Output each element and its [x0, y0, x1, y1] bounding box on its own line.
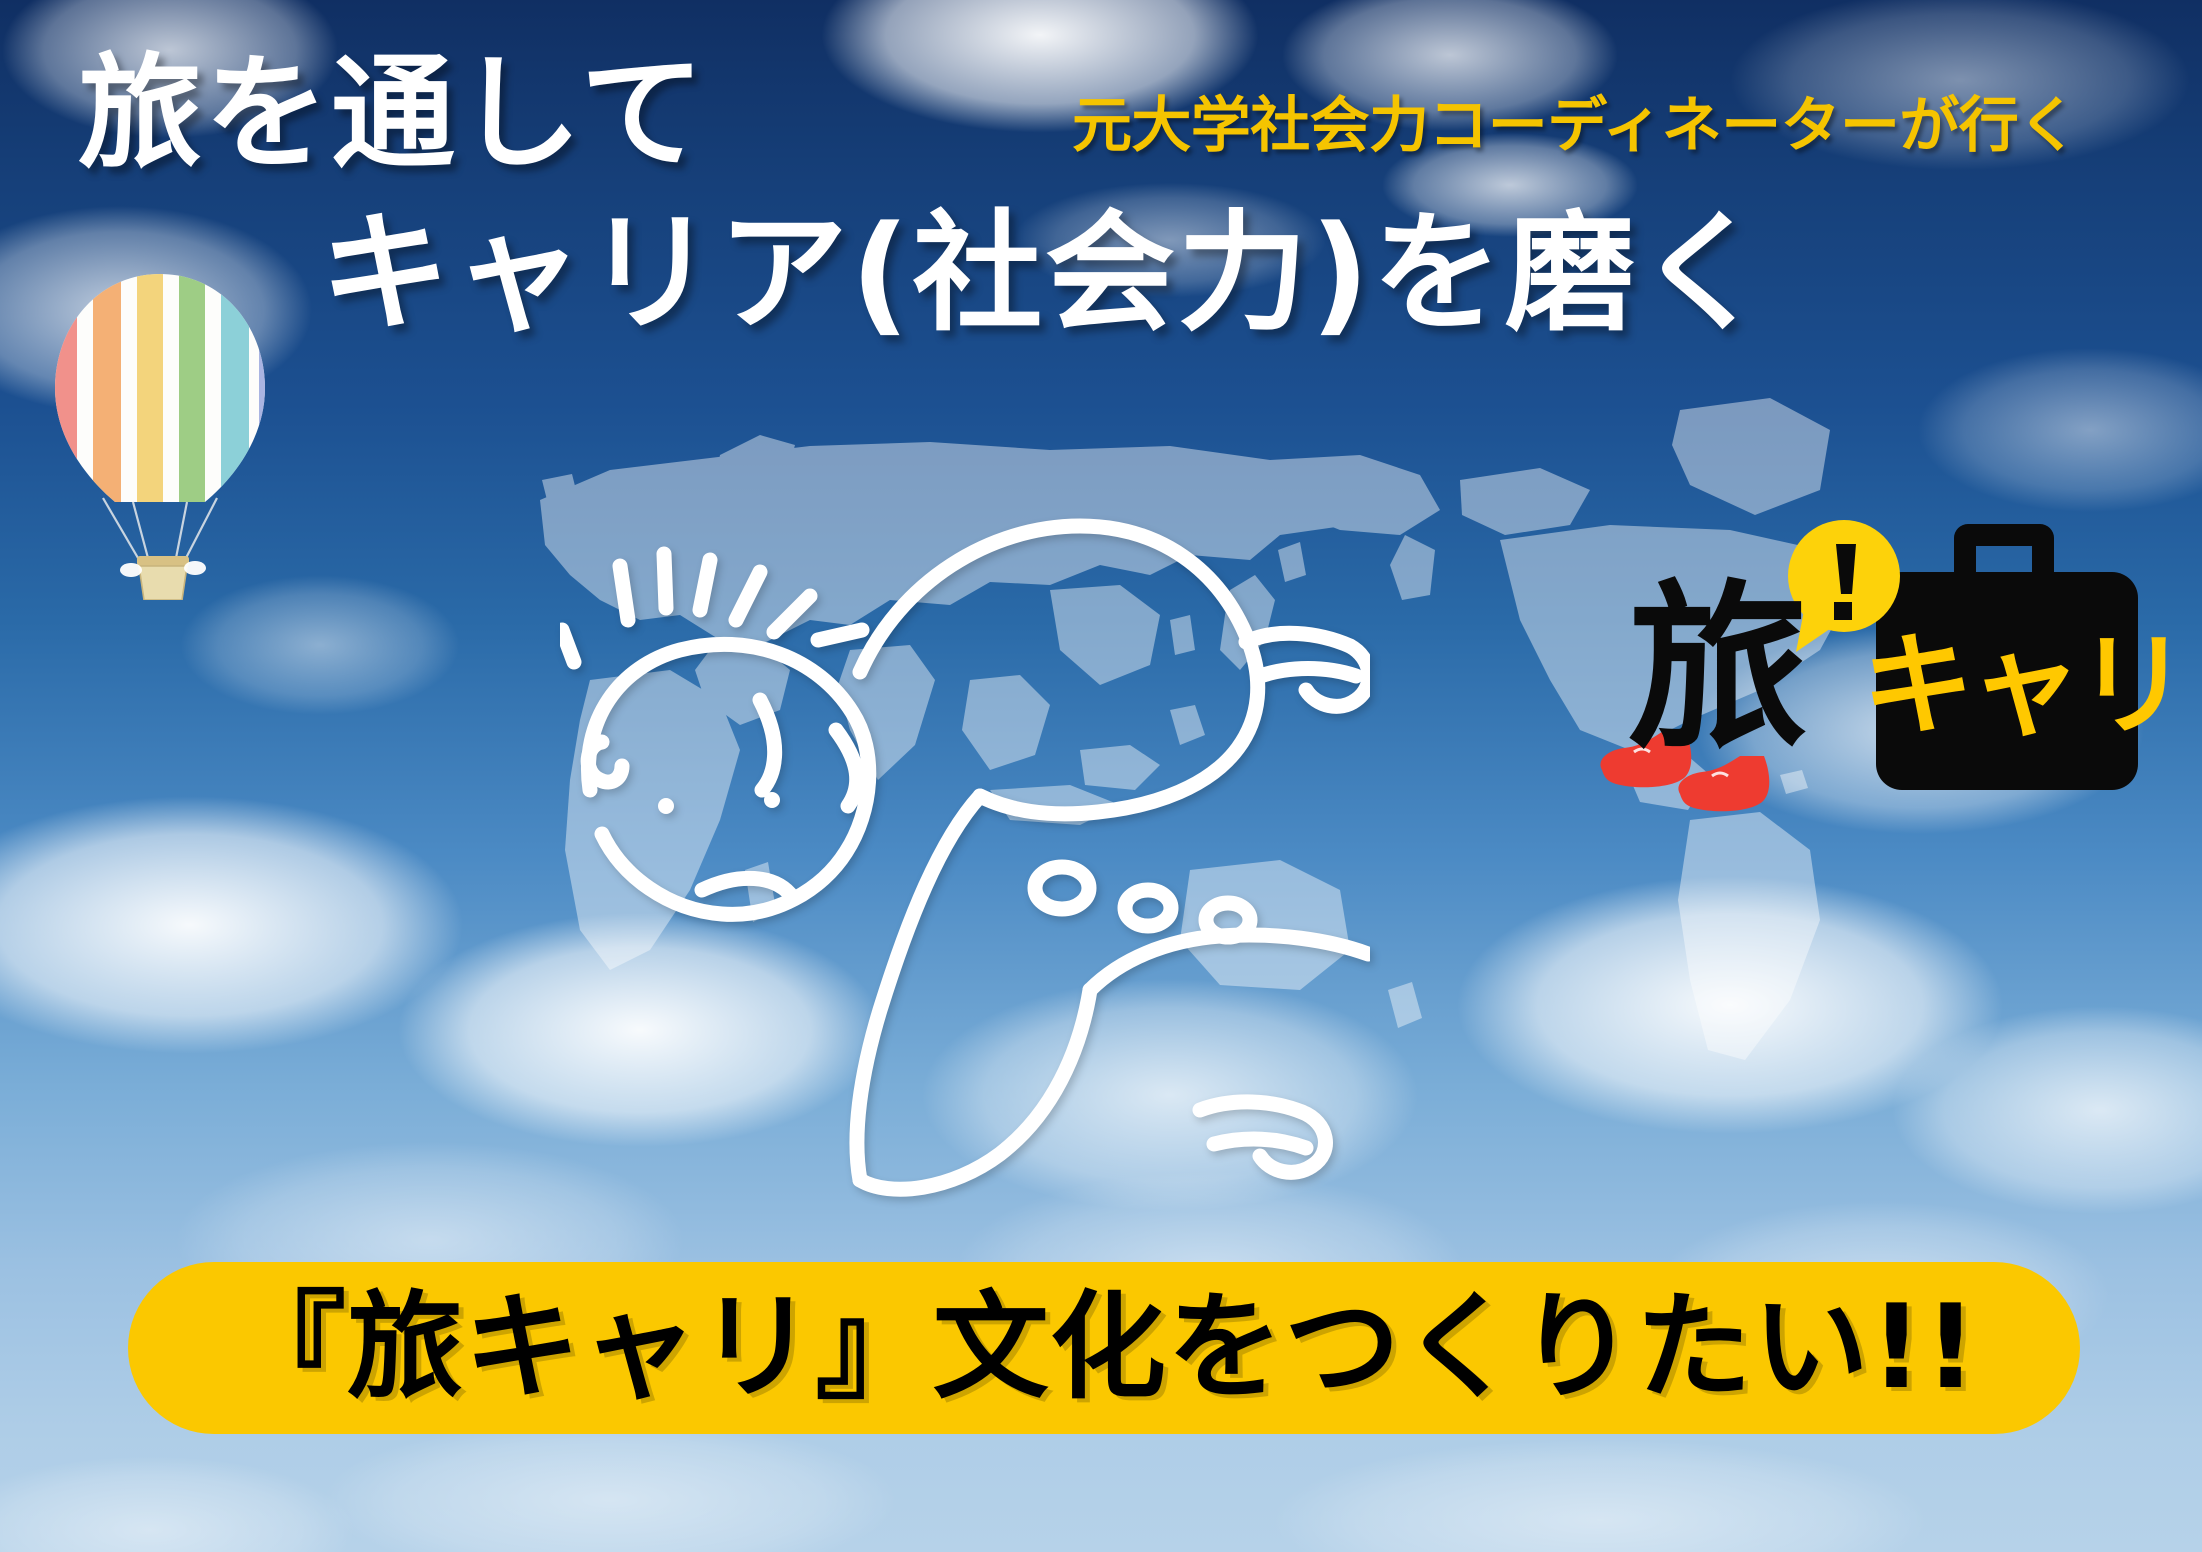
bottom-banner-text: 『旅キャリ』文化をつくりたい!!: [230, 1290, 1978, 1406]
bottom-banner: 『旅キャリ』文化をつくりたい!!: [128, 1262, 2080, 1434]
subtitle-tagline: 元大学社会力コーディネーターが行く: [1072, 96, 2078, 156]
logo-kanji: 旅: [1628, 580, 1812, 760]
hot-air-balloon-icon: [45, 270, 275, 600]
title-line-2: キャリア(社会力)を磨く: [320, 208, 1770, 338]
title-line-1: 旅を通して: [78, 52, 707, 176]
logo-kana: キャリ: [1862, 630, 2185, 742]
suitcase-handle: [1954, 524, 2054, 574]
poster-root: 旅 キャリ 旅を通して 元大学社会力コーディネーターが行く キャリア(社会力)を…: [0, 0, 2202, 1552]
